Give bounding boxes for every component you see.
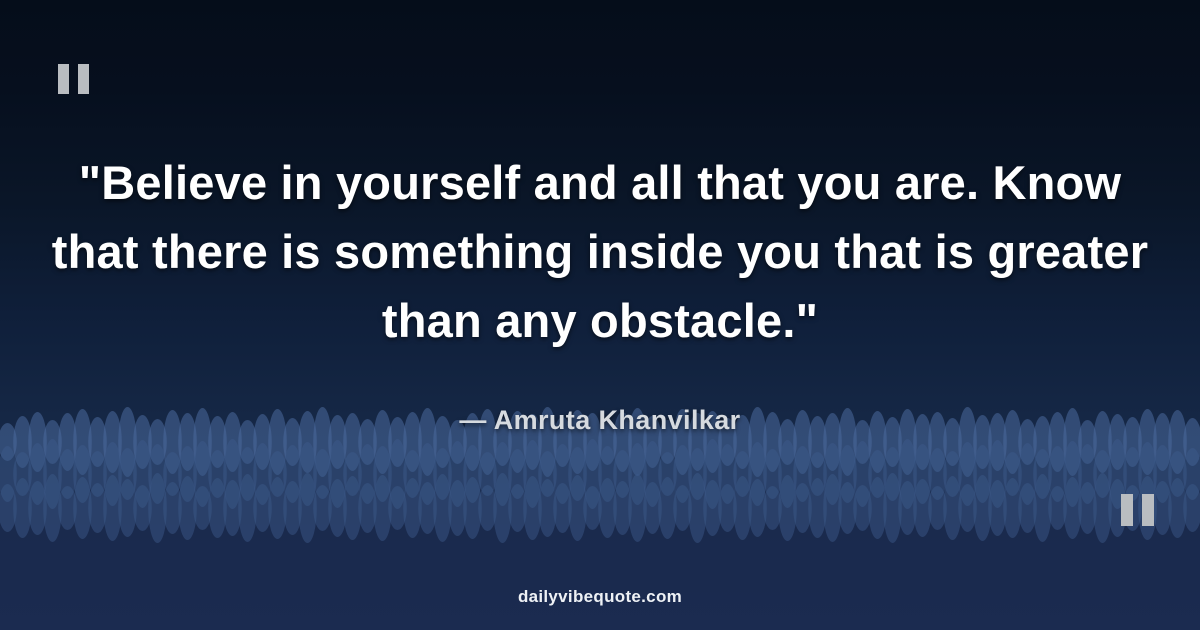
quote-card: "Believe in yourself and all that you ar… <box>0 0 1200 630</box>
quote-text: "Believe in yourself and all that you ar… <box>45 148 1155 355</box>
site-watermark: dailyvibequote.com <box>0 587 1200 607</box>
quote-author: — Amruta Khanvilkar <box>459 405 740 436</box>
card-content: "Believe in yourself and all that you ar… <box>0 0 1200 630</box>
